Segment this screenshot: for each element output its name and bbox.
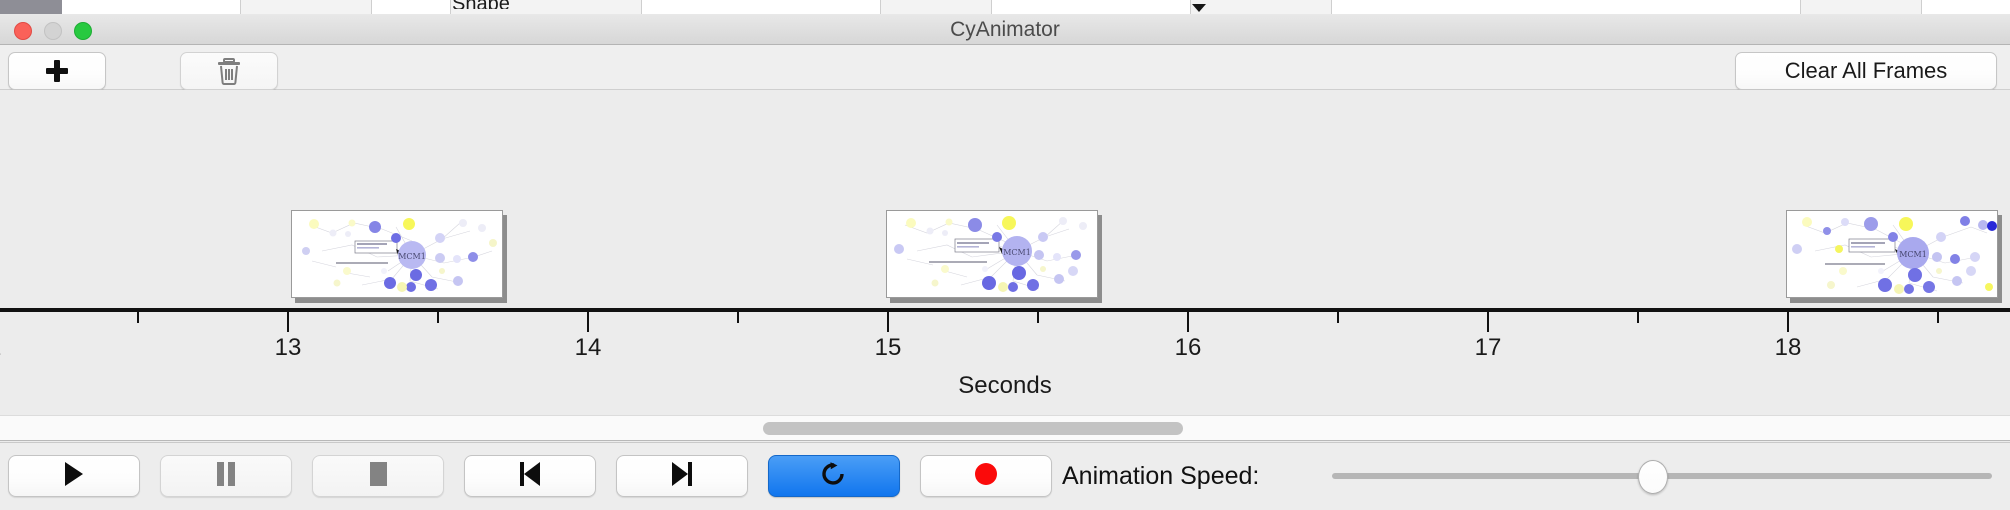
slider-thumb[interactable] [1638, 460, 1668, 494]
play-icon [62, 461, 86, 492]
plus-icon [45, 59, 69, 83]
axis-tick-minor [1337, 312, 1339, 323]
timeline-frame[interactable]: MCM1 [1786, 210, 2002, 302]
stop-icon [367, 461, 389, 492]
skip-to-end-icon [670, 461, 694, 492]
stop-button[interactable] [312, 455, 444, 497]
axis-tick-label: 16 [1175, 334, 1202, 362]
cyanimator-window: Shape CyAnimator [0, 0, 2010, 510]
axis-tick-label: 12 [0, 334, 1, 362]
axis-tick-minor [1937, 312, 1939, 323]
skip-to-start-icon [518, 461, 542, 492]
background-chip [1190, 0, 1332, 14]
axis-tick-label: 18 [1775, 334, 1802, 362]
frame-thumbnail-network: MCM1 [1786, 210, 1998, 298]
timeline-frame[interactable]: MCM1 [291, 210, 507, 302]
axis-tick-minor [437, 312, 439, 323]
axis-tick-major [1487, 312, 1489, 332]
clear-all-frames-label: Clear All Frames [1785, 58, 1948, 84]
scrollbar-thumb[interactable] [763, 422, 1183, 435]
background-chip [0, 0, 62, 14]
axis-tick-label: 15 [875, 334, 902, 362]
svg-text:MCM1: MCM1 [398, 252, 426, 261]
play-button[interactable] [8, 455, 140, 497]
clear-all-frames-button[interactable]: Clear All Frames [1735, 52, 1997, 90]
axis-tick-major [1787, 312, 1789, 332]
timeline-scrollbar[interactable] [0, 415, 2010, 441]
pause-icon [215, 461, 237, 492]
window-title: CyAnimator [0, 14, 2010, 45]
axis-tick-minor [137, 312, 139, 323]
last-frame-button[interactable] [616, 455, 748, 497]
axis-tick-label: 14 [575, 334, 602, 362]
background-app-strip: Shape [0, 0, 2010, 15]
svg-text:MCM1: MCM1 [1899, 250, 1927, 259]
axis-tick-major [287, 312, 289, 332]
delete-frame-button[interactable] [180, 52, 278, 90]
axis-tick-major [887, 312, 889, 332]
timeline-axis-line [0, 308, 2010, 312]
axis-tick-major [1187, 312, 1189, 332]
svg-text:MCM1: MCM1 [1003, 248, 1031, 257]
title-bar: CyAnimator [0, 14, 2010, 45]
first-frame-button[interactable] [464, 455, 596, 497]
background-chevron-down-icon [1192, 4, 1206, 12]
background-chip [240, 0, 372, 14]
playback-control-bar: Animation Speed: [0, 442, 2010, 510]
record-button[interactable] [920, 455, 1052, 497]
timeline-frame[interactable]: MCM1 [886, 210, 1102, 302]
background-app-label: Shape [452, 0, 510, 9]
background-chip [880, 0, 992, 14]
axis-tick-major [587, 312, 589, 332]
loop-icon [820, 460, 848, 493]
frame-thumbnail-network: MCM1 [886, 210, 1098, 298]
loop-toggle-button[interactable] [768, 455, 900, 497]
add-frame-button[interactable] [8, 52, 106, 90]
axis-tick-label: 13 [275, 334, 302, 362]
axis-tick-minor [1637, 312, 1639, 323]
animation-speed-slider[interactable] [1332, 455, 1992, 497]
axis-tick-minor [737, 312, 739, 323]
axis-title: Seconds [0, 372, 2010, 400]
toolbar: Clear All Frames [0, 45, 2010, 90]
animation-speed-label: Animation Speed: [1062, 455, 1259, 497]
trash-icon [216, 57, 242, 85]
pause-button[interactable] [160, 455, 292, 497]
frame-thumbnail-network: MCM1 [291, 210, 503, 298]
axis-tick-label: 17 [1475, 334, 1502, 362]
axis-tick-minor [1037, 312, 1039, 323]
background-chip [1800, 0, 1922, 14]
timeline-pane[interactable]: MCM1 [0, 90, 2010, 415]
record-icon [973, 461, 999, 492]
